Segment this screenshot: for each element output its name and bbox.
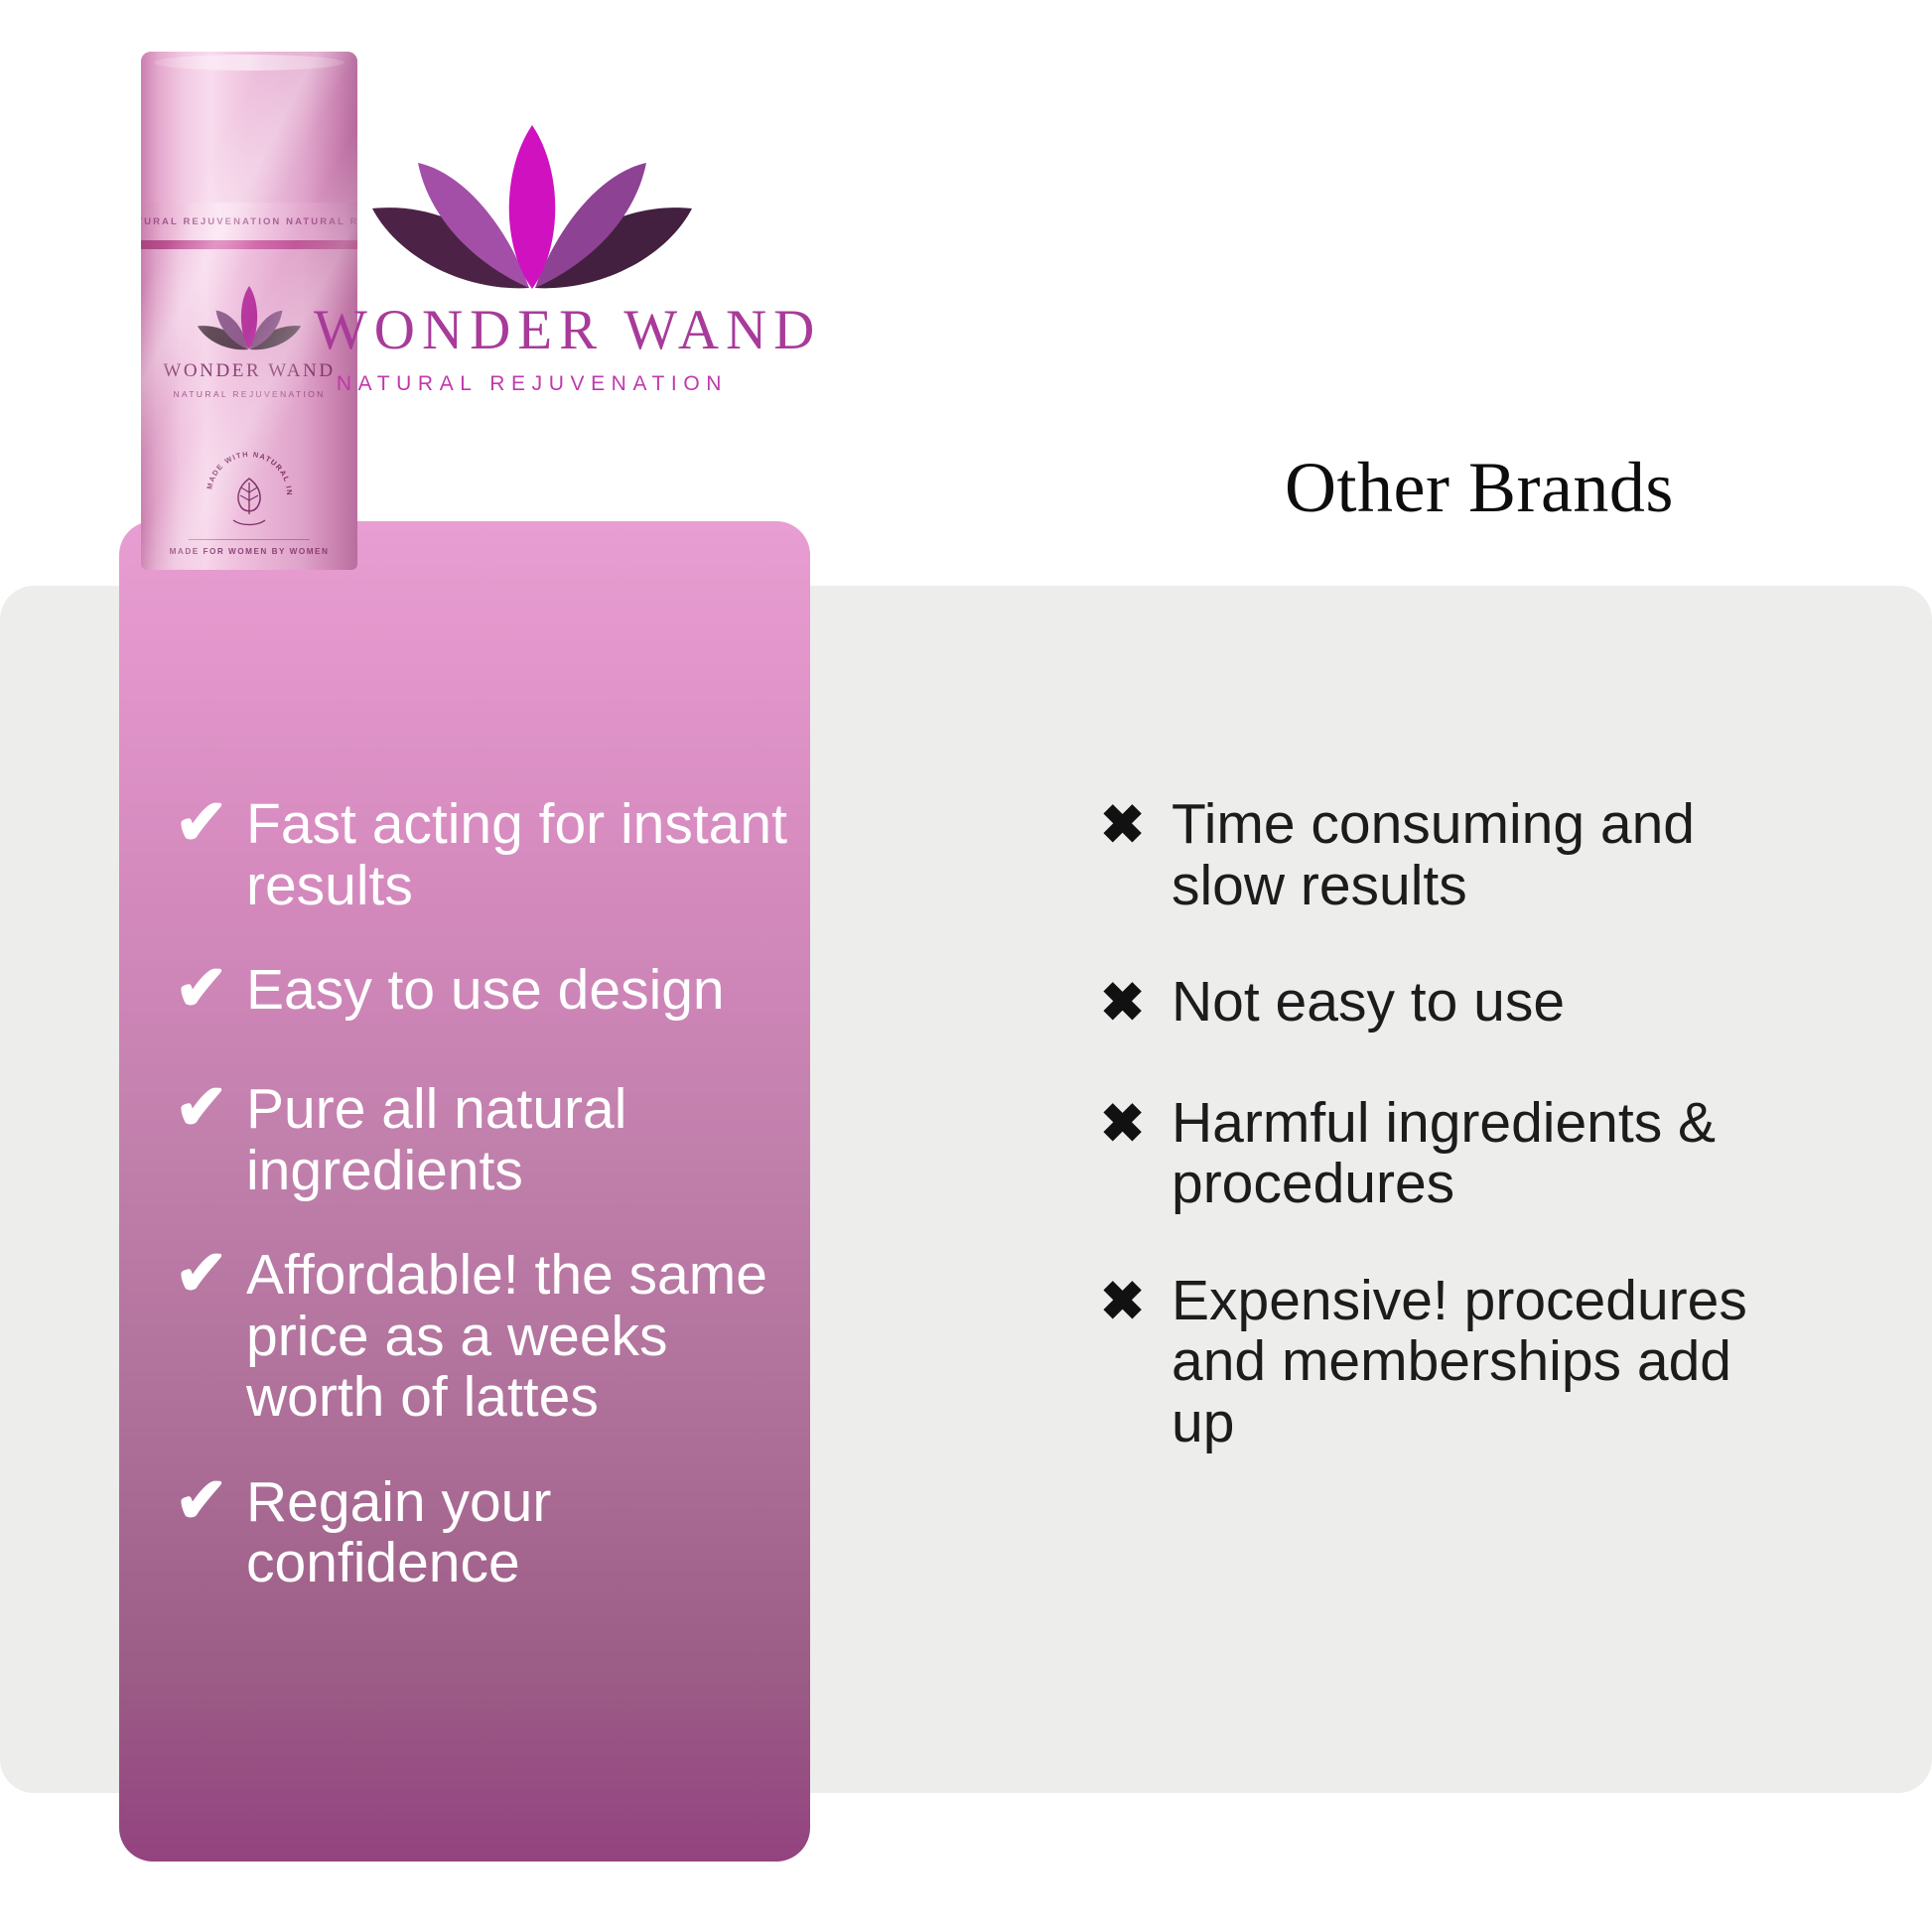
cons-item-label: Not easy to use <box>1172 972 1755 1034</box>
cap-highlight <box>154 55 345 70</box>
pros-item-label: Regain your confidence <box>246 1472 790 1594</box>
list-item: ✔ Easy to use design <box>175 960 790 1024</box>
pros-item-label: Fast acting for instant results <box>246 794 790 916</box>
brand-name: WONDER WAND <box>314 302 751 358</box>
pros-item-label: Pure all natural ingredients <box>246 1079 790 1201</box>
natural-ingredients-badge: MADE WITH NATURAL INGREDIENTS <box>198 443 301 546</box>
infographic-canvas: NATURAL REJUVENATION NATURAL REJUVENATIO… <box>0 0 1932 1932</box>
bottle-footer-rule <box>189 539 310 540</box>
check-icon: ✔ <box>175 956 246 1020</box>
cons-item-label: Harmful ingredients & procedures <box>1172 1093 1755 1215</box>
lotus-flower-icon <box>368 117 696 296</box>
brand-tagline: NATURAL REJUVENATION <box>314 372 751 396</box>
list-item: ✖ Time consuming and slow results <box>1100 794 1755 916</box>
cross-icon: ✖ <box>1100 1097 1172 1151</box>
svg-text:MADE WITH NATURAL INGREDIENTS: MADE WITH NATURAL INGREDIENTS <box>198 443 294 496</box>
bottle-footer-text: MADE FOR WOMEN BY WOMEN <box>141 547 357 556</box>
list-item: ✔ Fast acting for instant results <box>175 794 790 916</box>
brand-logo: WONDER WAND NATURAL REJUVENATION <box>314 117 751 396</box>
list-item: ✔ Pure all natural ingredients <box>175 1079 790 1201</box>
bottle-lotus-icon <box>191 279 308 356</box>
cons-list: ✖ Time consuming and slow results ✖ Not … <box>1100 794 1755 1453</box>
cons-item-label: Time consuming and slow results <box>1172 794 1755 916</box>
cross-icon: ✖ <box>1100 798 1172 852</box>
cons-item-label: Expensive! procedures and memberships ad… <box>1172 1271 1755 1454</box>
cross-icon: ✖ <box>1100 976 1172 1030</box>
check-icon: ✔ <box>175 1241 246 1305</box>
list-item: ✖ Harmful ingredients & procedures <box>1100 1093 1755 1215</box>
pros-list: ✔ Fast acting for instant results ✔ Easy… <box>175 794 790 1594</box>
pros-item-label: Easy to use design <box>246 960 790 1022</box>
check-icon: ✔ <box>175 1075 246 1139</box>
list-item: ✔ Regain your confidence <box>175 1472 790 1594</box>
check-icon: ✔ <box>175 1468 246 1532</box>
other-brands-heading: Other Brands <box>1152 452 1807 523</box>
pros-item-label: Affordable! the same price as a weeks wo… <box>246 1245 790 1429</box>
check-icon: ✔ <box>175 790 246 854</box>
list-item: ✖ Expensive! procedures and memberships … <box>1100 1271 1755 1454</box>
cross-icon: ✖ <box>1100 1275 1172 1328</box>
list-item: ✖ Not easy to use <box>1100 972 1755 1034</box>
list-item: ✔ Affordable! the same price as a weeks … <box>175 1245 790 1429</box>
